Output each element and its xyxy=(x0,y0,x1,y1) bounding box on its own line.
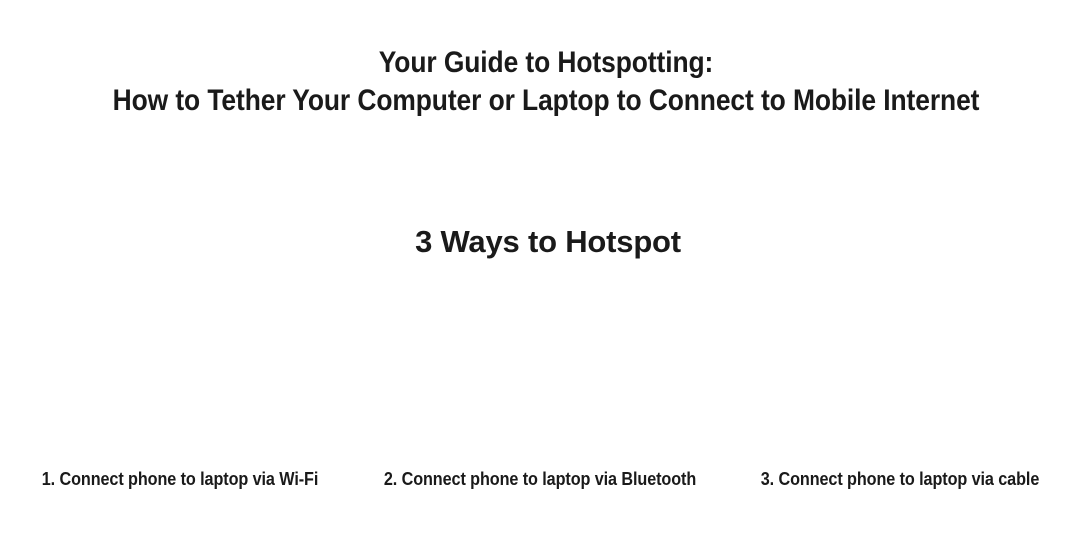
method-caption-bluetooth: 2. Connect phone to laptop via Bluetooth xyxy=(378,468,702,512)
method-column-wifi: 1. Connect phone to laptop via Wi-Fi xyxy=(0,280,360,512)
section-heading: 3 Ways to Hotspot xyxy=(0,222,1080,262)
methods-row: 1. Connect phone to laptop via Wi-Fi 2. … xyxy=(0,280,1080,512)
method-column-bluetooth: 2. Connect phone to laptop via Bluetooth xyxy=(360,280,720,512)
method-caption-cable: 3. Connect phone to laptop via cable xyxy=(738,468,1062,512)
section-heading-text: 3 Ways to Hotspot xyxy=(415,222,681,262)
method-illustration-bluetooth xyxy=(360,280,720,468)
method-column-cable: 3. Connect phone to laptop via cable xyxy=(720,280,1080,512)
page-title: Your Guide to Hotspotting: How to Tether… xyxy=(0,44,1080,120)
method-caption-wifi: 1. Connect phone to laptop via Wi-Fi xyxy=(18,468,342,512)
page-title-line-1: Your Guide to Hotspotting: xyxy=(76,44,1016,82)
method-illustration-cable xyxy=(720,280,1080,468)
method-illustration-wifi xyxy=(0,280,360,468)
page-title-line-2: How to Tether Your Computer or Laptop to… xyxy=(76,82,1016,120)
article-page: Your Guide to Hotspotting: How to Tether… xyxy=(0,0,1080,552)
